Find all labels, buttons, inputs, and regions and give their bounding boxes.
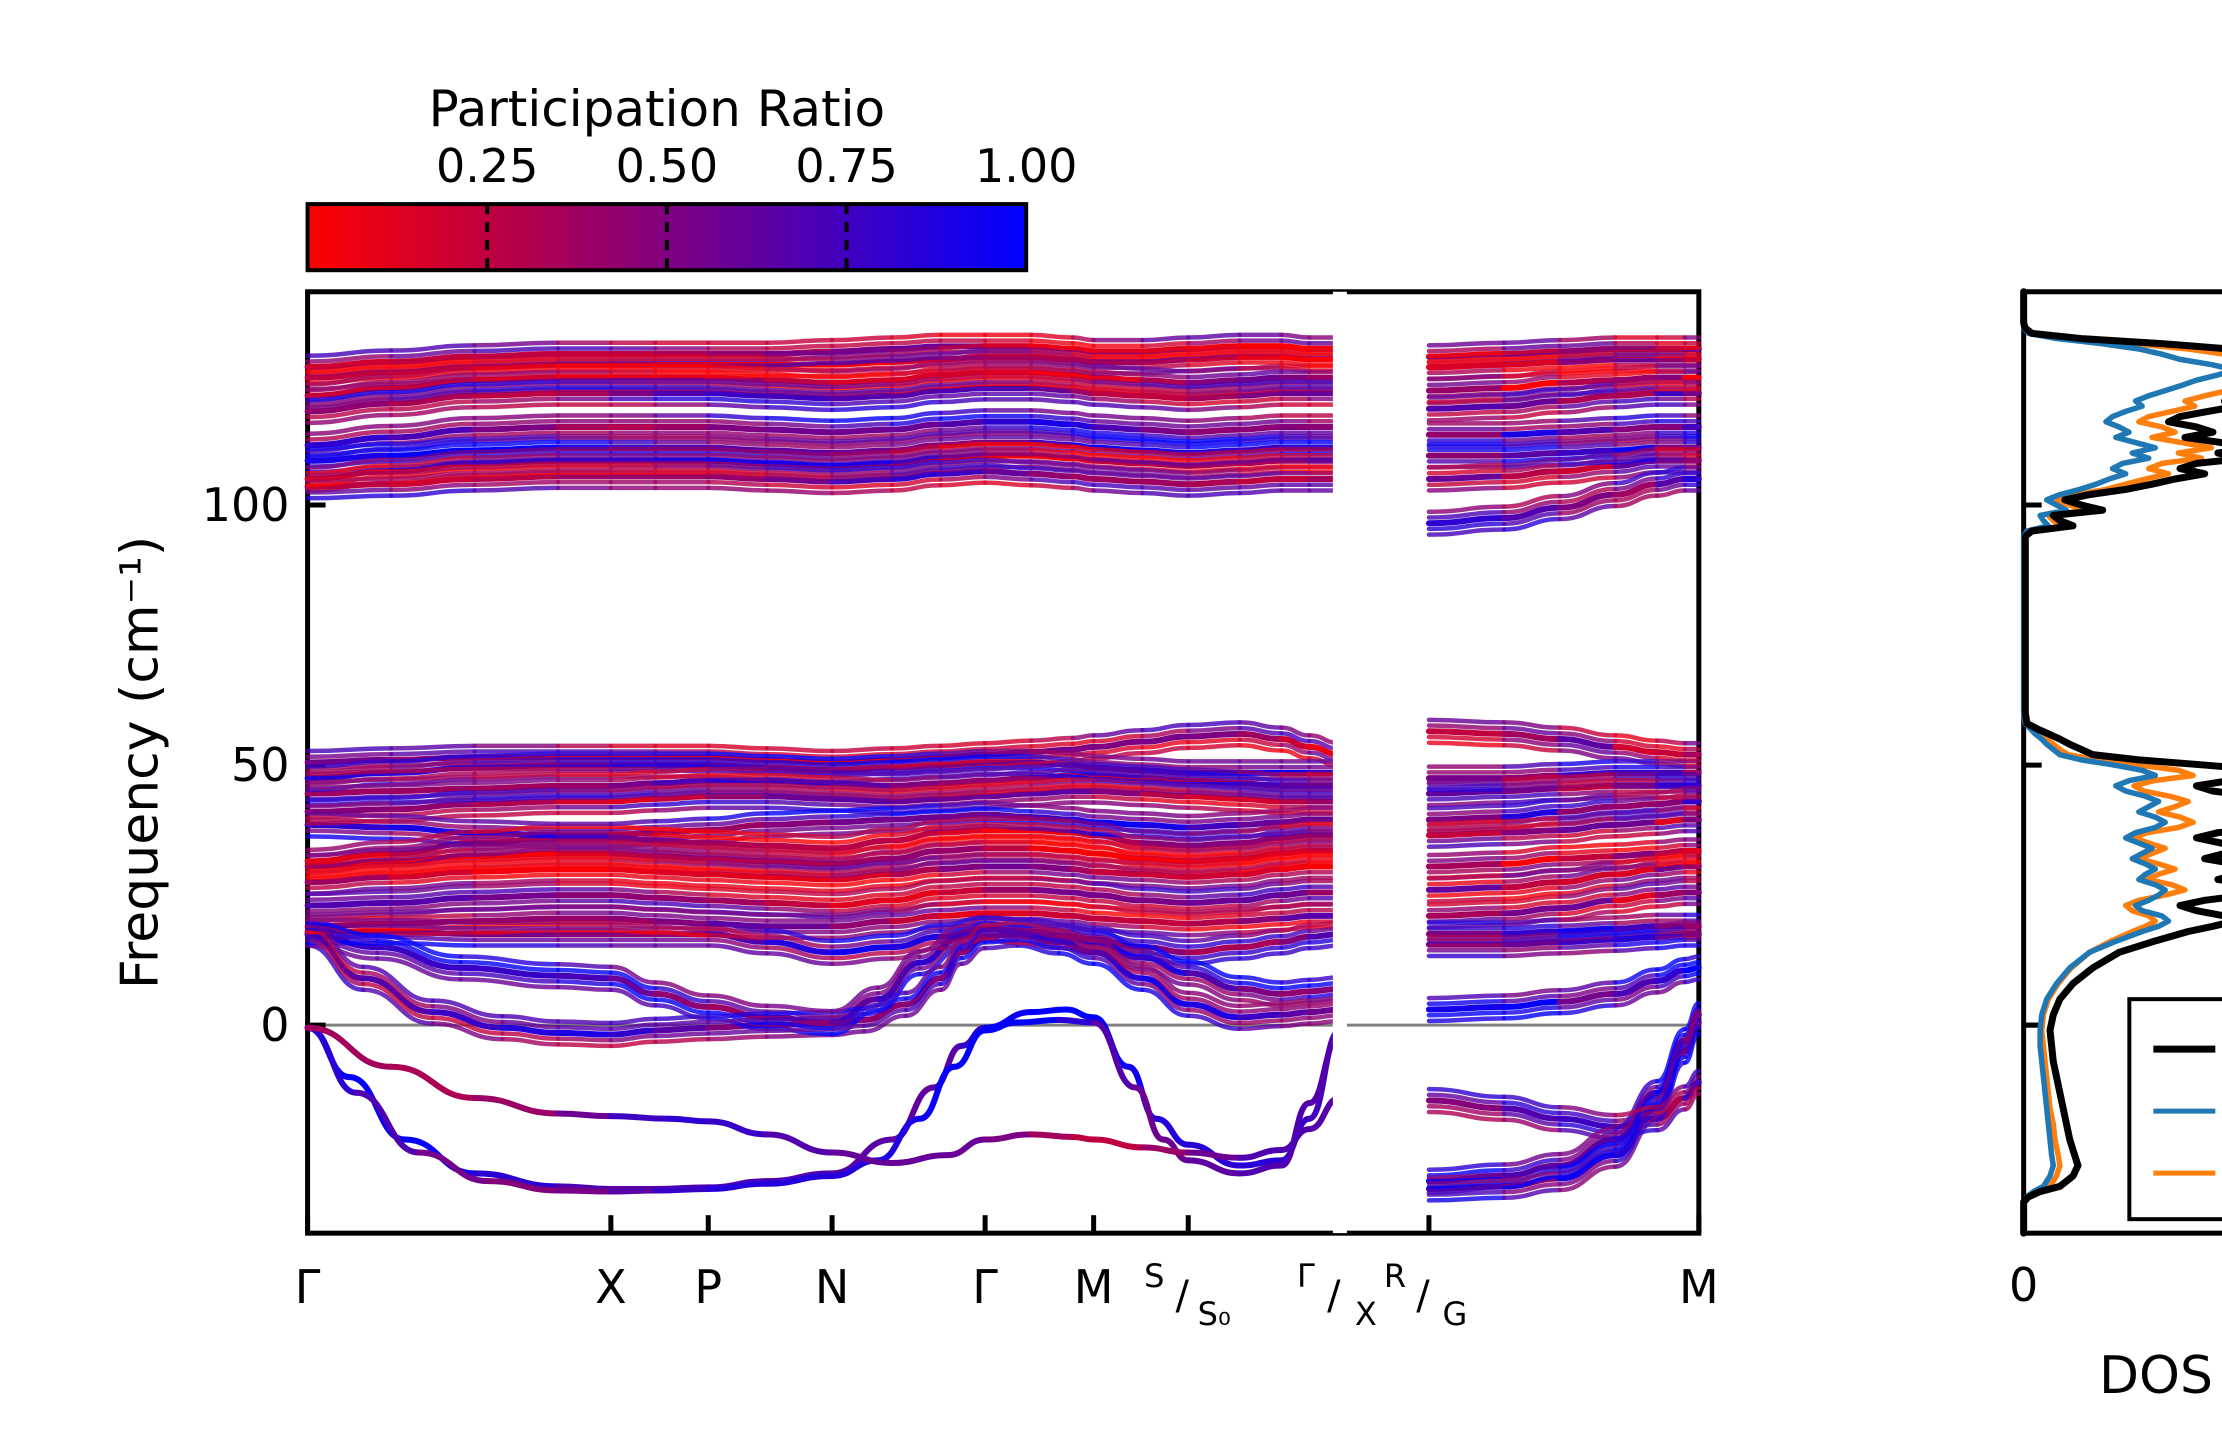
band-curve-dense-r105-0-2 (1560, 951, 1616, 954)
band-curve-dense-r109-3-0 (1429, 852, 1504, 855)
band-curve-dense-12-2-0 (308, 819, 391, 822)
band-curve-dense-13-2-12 (1031, 785, 1073, 788)
band-curve-2-seg-1 (356, 1093, 419, 1153)
band-curve-dense-13-1-16 (1188, 802, 1239, 805)
band-curve-dense-13-3-14 (1094, 780, 1143, 783)
band-curve-118-seg-1 (1504, 432, 1560, 435)
band-curve-dense-17-0-16 (1188, 493, 1239, 496)
band-curve-3-seg-7 (767, 1134, 832, 1152)
band-curve-dense-9-1-5 (655, 877, 708, 880)
band-curve-dense-12-3-0 (308, 813, 391, 816)
band-curve-dense-18-3-7 (767, 452, 832, 455)
band-curve-dense-r110-1-0 (1429, 838, 1504, 841)
band-curve-dense-24-2-12 (1031, 341, 1073, 344)
band-curve-dense-r121-3-2 (1560, 348, 1616, 351)
band-curve-dense-15-3-6 (708, 754, 766, 757)
band-curve-dense-24-3-8 (832, 338, 892, 341)
band-curve-dense-20-3-8 (832, 418, 892, 421)
band-curve-2-seg-14 (1017, 1020, 1059, 1023)
band-curve-dense-21-1-14 (1094, 399, 1143, 402)
band-curve-dense-20-2-16 (1188, 424, 1239, 427)
band-curve-dense-14-3-7 (767, 769, 832, 772)
band-curve-dense-15-3-7 (767, 756, 832, 759)
band-curve-dense-16-3-12 (1031, 738, 1073, 741)
band-curve-dense-r110-3-0 (1429, 821, 1504, 824)
band-curve-dense-r106-0-3 (1615, 938, 1657, 941)
band-curve-dense-21-3-7 (767, 384, 832, 387)
band-curve-dense-9-3-13 (1073, 858, 1094, 861)
band-curve-dense-21-2-17 (1240, 387, 1282, 390)
band-curve-dense-r118-2-1 (1504, 426, 1560, 429)
band-curve-dense-r110-0-3 (1615, 834, 1657, 837)
band-curve-dense-r113-3-1 (1504, 764, 1560, 767)
band-curve-dense-23-3-13 (1073, 348, 1094, 351)
band-curve-3-seg-9 (892, 1155, 948, 1163)
band-curve-dense-20-2-15 (1142, 424, 1188, 427)
band-curve-dense-17-3-10 (941, 460, 986, 463)
band-curve-dense-9-3-18 (1281, 855, 1309, 858)
band-curve-dense-r122-0-0 (1429, 366, 1504, 369)
band-panel: 100500Frequency (cm⁻¹)ΓXPNΓMS/S₀Γ/XR/GM (111, 292, 1719, 1333)
band-curve-dense-21-3-6 (708, 382, 766, 385)
band-curve-dense-7-3-16 (1188, 910, 1239, 913)
band-curve-dense-15-2-7 (767, 762, 832, 765)
band-curve-dense-10-3-12 (1031, 837, 1073, 840)
band-curve-dense-12-1-0 (308, 831, 391, 834)
band-curve-dense-r112-3-2 (1560, 774, 1616, 777)
band-curve-dense-23-2-12 (1031, 351, 1073, 354)
band-curve-dense-8-3-18 (1281, 881, 1309, 884)
band-curve-dense-17-0-10 (941, 483, 986, 486)
band-curve-dense-21-2-6 (708, 387, 766, 390)
band-curve-20-seg-6 (708, 427, 766, 430)
band-curve-dense-r116-0-0 (1429, 488, 1504, 491)
band-curve-dense-r105-0-3 (1615, 948, 1657, 951)
band-curve-dense-r106-3-3 (1615, 915, 1657, 918)
band-curve-dense-19-3-8 (832, 439, 892, 442)
band-curve-dense-11-3-18 (1281, 824, 1309, 827)
band-curve-dense-21-3-12 (1031, 377, 1073, 380)
band-curve-dense-16-3-6 (708, 746, 766, 749)
band-curve-dense-7-0-5 (655, 933, 708, 936)
band-curve-dense-14-2-7 (767, 775, 832, 778)
band-curve-dense-13-2-5 (655, 791, 708, 794)
band-curve-8-seg-18 (1281, 892, 1309, 895)
band-curve-dense-7-1-17 (1240, 924, 1282, 927)
band-curve-dense-r122-3-0 (1429, 343, 1504, 346)
band-curve-dense-8-1-12 (1031, 896, 1073, 899)
band-curve-dense-r119-2-0 (1429, 400, 1504, 403)
band-curve-dense-18-3-2 (475, 449, 558, 452)
band-curve-dense-14-3-17 (1240, 772, 1282, 775)
band-curve-dense-9-3-10 (941, 855, 986, 858)
band-curve-dense-17-2-6 (708, 471, 766, 474)
band-curve-dense-13-1-5 (655, 802, 708, 805)
band-curve-dense-11-2-16 (1188, 837, 1239, 840)
band-curve-dense-7-2-2 (475, 913, 558, 916)
band-curve-dense-r106-3-2 (1560, 917, 1616, 920)
band-curve-dense-14-3-4 (611, 772, 656, 775)
band-curve-dense-6-3-1 (391, 920, 474, 923)
band-curve-dense-10-2-12 (1031, 843, 1073, 846)
band-curve-dense-r108-3-4 (1657, 855, 1685, 858)
band-curve-dense-17-2-12 (1031, 468, 1073, 471)
band-curve-dense-14-3-0 (308, 780, 391, 783)
band-curve-dense-16-3-1 (391, 746, 474, 749)
band-curve-dense-20-2-10 (941, 416, 986, 419)
band-curve-dense-13-1-14 (1094, 797, 1143, 800)
band-curve-dense-17-3-17 (1240, 468, 1282, 471)
band-curve-dense-4-3-14 (985, 923, 1017, 926)
band-curve-dense-12-2-18 (1281, 814, 1309, 817)
band-curve-dense-24-2-8 (832, 343, 892, 346)
phonon-figure: 0.250.500.751.00Participation Ratio10050… (0, 0, 2222, 1455)
band-curve-2-seg-6 (655, 1189, 708, 1191)
band-curve-dense-19-2-17 (1240, 442, 1282, 445)
band-curve-dense-r106-0-2 (1560, 940, 1616, 943)
band-curve-dense-r112-1-0 (1429, 797, 1504, 800)
band-curve-7-seg-16 (1188, 921, 1239, 924)
band-curve-dense-21-1-10 (941, 394, 986, 397)
band-curve-dense-8-1-2 (475, 901, 558, 904)
band-curve-4-seg-21 (1281, 1012, 1309, 1015)
band-curve-9-seg-10 (941, 866, 986, 869)
band-curve-dense-r104-2-5 (1685, 962, 1699, 965)
band-curve-dense-7-3-2 (475, 907, 558, 910)
band-curve-111-seg-4 (1657, 801, 1685, 804)
band-ytick-label-1: 50 (231, 738, 290, 792)
band-curve-dense-24-2-15 (1142, 343, 1188, 346)
band-curve-dense-13-2-9 (892, 793, 941, 796)
band-curve-dense-5-2-19 (1281, 986, 1309, 989)
band-curve-dense-14-2-8 (832, 778, 892, 781)
band-curve-dense-9-2-15 (1142, 869, 1188, 872)
band-curve-dense-17-0-15 (1142, 493, 1188, 496)
band-curve-dense-17-1-6 (708, 482, 766, 485)
band-curve-dense-24-3-7 (767, 340, 832, 343)
band-curve-dense-7-2-10 (941, 908, 986, 911)
band-curve-dense-r108-3-0 (1429, 876, 1504, 879)
band-curve-dense-13-3-9 (892, 787, 941, 790)
colorbar-tick-label-2: 0.75 (795, 139, 897, 193)
colorbar-tick-label-1: 0.50 (616, 139, 718, 193)
band-curve-dense-19-3-7 (767, 439, 832, 442)
band-curve-dense-18-2-8 (832, 458, 892, 461)
band-curve-3-seg-5 (669, 1119, 708, 1122)
band-curve-dense-16-2-16 (1188, 728, 1239, 731)
band-curve-12-seg-7 (767, 822, 832, 825)
band-curve-dense-20-3-10 (941, 410, 986, 413)
band-curve-dense-21-3-8 (832, 384, 892, 387)
band-curve-9-seg-12 (1031, 866, 1073, 869)
band-curve-dense-8-1-4 (611, 901, 656, 904)
band-curve-dense-r105-3-2 (1560, 928, 1616, 931)
band-curve-5-seg-3 (558, 976, 611, 979)
band-curve-dense-7-2-14 (1094, 913, 1143, 916)
band-curve-dense-16-3-10 (941, 743, 986, 746)
band-curve-dense-r113-2-2 (1560, 767, 1616, 770)
band-curve-dense-21-2-16 (1188, 390, 1239, 393)
band-curve-dense-18-3-15 (1142, 452, 1188, 455)
band-curve-7-seg-17 (1240, 918, 1282, 921)
band-curve-dense-21-2-14 (1094, 387, 1143, 390)
band-curve-dense-r120-2-3 (1615, 372, 1657, 375)
band-curve-dense-22-3-17 (1240, 366, 1282, 369)
band-curve-dense-24-2-7 (767, 346, 832, 349)
band-curve-dense-9-3-6 (708, 863, 766, 866)
band-curve-dense-22-2-14 (1094, 372, 1143, 375)
band-curve-dense-18-2-17 (1240, 455, 1282, 458)
band-curve-dense-r110-3-4 (1657, 808, 1685, 811)
band-curve-2-seg-0 (308, 1028, 357, 1093)
band-curve-dense-14-2-4 (611, 778, 656, 781)
band-curve-3-seg-1 (391, 1067, 474, 1098)
band-curve-dense-12-3-16 (1188, 813, 1239, 816)
band-curve-10-seg-10 (941, 848, 986, 851)
band-curve-dense-4-3-6 (655, 1016, 708, 1019)
band-curve-118-seg-3 (1615, 427, 1657, 430)
band-curve-dense-17-2-11 (985, 465, 1031, 468)
band-xtick-num-6: S (1144, 1257, 1164, 1295)
band-curve-dense-r114-3-0 (1429, 720, 1504, 723)
band-curve-dense-6-3-13 (1073, 925, 1094, 928)
band-curve-3-seg-17 (1240, 1150, 1282, 1158)
band-curve-dense-r110-0-4 (1657, 831, 1685, 834)
band-curve-dense-10-3-15 (1142, 847, 1188, 850)
band-curve-dense-17-0-12 (1031, 485, 1073, 488)
band-curve-dense-20-2-2 (475, 421, 558, 424)
band-curve-dense-r119-3-0 (1429, 395, 1504, 398)
band-curve-dense-17-0-0 (308, 496, 391, 499)
band-curve-dense-8-3-2 (475, 884, 558, 887)
band-curve-dense-21-0-7 (767, 407, 832, 410)
band-curve-dense-13-2-15 (1142, 788, 1188, 791)
band-curve-dense-r121-3-1 (1504, 351, 1560, 354)
band-curve-dense-21-2-12 (1031, 382, 1073, 385)
band-curve-dense-r117-3-1 (1504, 442, 1560, 445)
band-curve-dense-r113-2-1 (1504, 770, 1560, 773)
band-curve-dense-23-2-13 (1073, 354, 1094, 357)
band-curve-dense-12-3-9 (892, 806, 941, 809)
band-curve-dense-8-3-4 (611, 884, 656, 887)
band-curve-dense-r106-2-3 (1615, 921, 1657, 924)
band-curve-dense-24-2-9 (892, 341, 941, 344)
band-curve-dense-17-1-15 (1142, 487, 1188, 490)
band-curve-dense-4-0-6 (655, 1039, 708, 1042)
band-curve-dense-7-0-1 (391, 933, 474, 936)
band-curve-dense-12-3-11 (985, 803, 1031, 806)
band-curve-dense-22-2-8 (832, 374, 892, 377)
band-curve-dense-20-3-15 (1142, 418, 1188, 421)
band-curve-dense-23-3-18 (1281, 345, 1309, 348)
band-curve-dense-21-3-10 (941, 377, 986, 380)
band-curve-dense-r105-2-1 (1504, 936, 1560, 939)
band-ytick-label-2: 0 (260, 998, 289, 1052)
band-curve-dense-24-0-18 (1281, 358, 1309, 361)
band-curve-dense-10-2-18 (1281, 845, 1309, 848)
band-curve-dense-14-3-1 (391, 777, 474, 780)
band-curve-dense-20-3-2 (475, 416, 558, 419)
band-curve-3-seg-10 (948, 1140, 986, 1156)
band-curve-dense-19-2-16 (1188, 445, 1239, 448)
band-curve-dense-18-3-8 (832, 452, 892, 455)
band-curve-20-seg-14 (1094, 427, 1143, 430)
band-curve-16-seg-13 (1073, 747, 1094, 750)
band-curve-dense-4-0-4 (558, 1044, 611, 1046)
band-curve-dense-14-3-16 (1188, 769, 1239, 772)
band-curve-dense-19-2-10 (941, 437, 986, 440)
band-curve-dense-13-3-10 (941, 785, 986, 788)
band-curve-dense-7-2-1 (391, 915, 474, 918)
band-curve-dense-16-0-16 (1188, 745, 1239, 748)
band-curve-dense-23-2-8 (832, 356, 892, 359)
band-curve-dense-15-3-14 (1094, 756, 1143, 759)
band-curve-dense-17-3-11 (985, 460, 1031, 463)
band-curve-dense-11-2-13 (1073, 827, 1094, 830)
band-curve-dense-12-2-15 (1142, 819, 1188, 822)
band-xtick-den-7: X (1355, 1295, 1377, 1333)
band-curve-dense-8-3-13 (1073, 881, 1094, 884)
band-curve-dense-12-3-7 (767, 811, 832, 814)
band-curve-dense-11-3-13 (1073, 821, 1094, 824)
band-curve-dense-4-2-6 (655, 1022, 708, 1025)
band-curve-8-seg-7 (767, 903, 832, 906)
band-curve-dense-21-0-12 (1031, 399, 1073, 402)
band-curve-dense-11-2-18 (1281, 830, 1309, 833)
band-curve-dense-4-3-7 (708, 1014, 766, 1017)
band-curve-2-seg-5 (611, 1191, 656, 1192)
band-curve-dense-r109-3-3 (1615, 842, 1657, 845)
band-curve-dense-11-2-15 (1142, 837, 1188, 840)
band-curve-dense-23-3-12 (1031, 345, 1073, 348)
band-curve-dense-r117-3-3 (1615, 436, 1657, 439)
band-curve-dense-r104-1-5 (1685, 974, 1699, 977)
band-curve-8-seg-13 (1073, 892, 1094, 895)
band-curve-dense-7-2-17 (1240, 913, 1282, 916)
band-curve-116-seg-0 (1429, 476, 1504, 479)
band-curve-dense-23-1-16 (1188, 362, 1239, 365)
band-curve-dense-10-3-13 (1073, 839, 1094, 842)
band-curve-dense-8-3-7 (767, 891, 832, 894)
band-curve-dense-20-2-13 (1073, 419, 1094, 422)
band-curve-dense-r120-3-0 (1429, 377, 1504, 380)
band-curve-dense-12-2-11 (985, 809, 1031, 812)
band-curve-dense-22-3-12 (1031, 361, 1073, 364)
band-curve-dense-8-2-10 (941, 884, 986, 887)
band-curve-dense-r120-3-3 (1615, 366, 1657, 369)
band-curves-dense (308, 335, 1699, 1200)
band-curve-dense-21-2-15 (1142, 390, 1188, 393)
band-curve-dense-7-3-12 (1031, 902, 1073, 905)
band-curve-17-seg-15 (1142, 482, 1188, 485)
band-curve-dense-17-1-12 (1031, 480, 1073, 483)
band-curve-dense-13-1-12 (1031, 797, 1073, 800)
band-curve-dense-r107-0-4 (1657, 904, 1685, 907)
band-curve-dense-r105-1-3 (1615, 942, 1657, 945)
band-curve-dense-8-2-6 (708, 895, 766, 898)
band-curve-2-seg-16 (1094, 1023, 1136, 1088)
band-curve-dense-17-3-7 (767, 468, 832, 471)
band-curve-dense-17-1-14 (1094, 485, 1143, 488)
band-curve-dense-19-3-14 (1094, 436, 1143, 439)
band-curve-dense-16-2-1 (391, 752, 474, 755)
dos-legend[interactable]: TotalHgI (2129, 999, 2222, 1219)
band-curve-dense-4-2-14 (985, 928, 1017, 931)
band-curve-dense-21-3-14 (1094, 382, 1143, 385)
band-curve-dense-23-3-2 (475, 353, 558, 356)
band-curve-dense-7-2-16 (1188, 915, 1239, 918)
band-curve-dense-12-2-8 (832, 814, 892, 817)
band-discontinuity-mask (1333, 295, 1347, 1230)
band-curve-dense-22-2-7 (767, 374, 832, 377)
band-curve-dense-13-2-14 (1094, 785, 1143, 788)
band-curve-dense-24-2-2 (475, 348, 558, 351)
band-curve-dense-14-3-5 (655, 769, 708, 772)
band-curve-8-seg-5 (655, 898, 708, 901)
band-curve-dense-17-1-11 (985, 477, 1031, 480)
band-curve-dense-18-3-6 (708, 449, 766, 452)
band-curve-dense-r120-2-2 (1560, 374, 1616, 377)
band-curve-dense-13-3-5 (655, 785, 708, 788)
band-curve-dense-r110-0-0 (1429, 844, 1504, 847)
band-curve-dense-14-2-10 (941, 775, 986, 778)
band-curve-dense-21-0-6 (708, 405, 766, 408)
band-curve-dense-9-3-4 (611, 858, 656, 861)
band-curve-dense-17-3-2 (475, 465, 558, 468)
colorbar-tick-label-0: 0.25 (436, 139, 538, 193)
band-curve-dense-15-3-10 (941, 751, 986, 754)
band-curve-dense-r114-2-0 (1429, 726, 1504, 729)
band-curve-dense-8-3-6 (708, 889, 766, 892)
band-curve-dense-21-1-2 (475, 399, 558, 402)
band-curve-dense-r114-0-0 (1429, 743, 1504, 746)
band-curve-dense-15-2-12 (1031, 757, 1073, 760)
band-curve-dense-24-3-9 (892, 335, 941, 338)
band-curve-dense-22-3-13 (1073, 364, 1094, 367)
band-curve-dense-7-3-10 (941, 902, 986, 905)
band-curve-dense-16-2-12 (1031, 744, 1073, 747)
band-xtick-den-6: S₀ (1198, 1295, 1231, 1333)
band-curve-dense-8-2-18 (1281, 887, 1309, 890)
band-curve-dense-17-2-17 (1240, 473, 1282, 476)
band-curve-dense-8-2-16 (1188, 895, 1239, 898)
band-curve-dense-24-3-13 (1073, 338, 1094, 341)
band-curve-dense-r105-0-1 (1504, 953, 1560, 956)
band-curve-dense-r117-2-2 (1560, 445, 1616, 448)
band-curve-dense-12-1-7 (767, 828, 832, 831)
band-curve-dense-22-2-17 (1240, 372, 1282, 375)
band-curve-110-seg-4 (1657, 820, 1685, 823)
band-curve-dense-5-3-3 (558, 964, 611, 967)
band-curve-dense-21-3-13 (1073, 379, 1094, 382)
band-curve-dense-13-2-7 (767, 791, 832, 794)
band-curve-dense-17-3-14 (1094, 468, 1143, 471)
band-curve-dense-21-1-12 (1031, 394, 1073, 397)
band-curve-dense-r109-2-0 (1429, 858, 1504, 861)
band-curve-dense-r111-2-3 (1615, 798, 1657, 801)
band-curve-dense-6-2-1 (391, 926, 474, 929)
band-curve-dense-r121-3-0 (1429, 353, 1504, 356)
band-curve-dense-10-2-7 (767, 856, 832, 859)
band-curve-dense-19-3-16 (1188, 439, 1239, 442)
band-curve-dense-19-2-6 (708, 442, 766, 445)
band-curve-dense-9-1-18 (1281, 872, 1309, 875)
band-curve-dense-r119-1-0 (1429, 412, 1504, 415)
band-curve-dense-8-1-10 (941, 896, 986, 899)
band-curve-dense-16-1-16 (1188, 740, 1239, 743)
band-curve-dense-17-1-0 (308, 490, 391, 493)
band-curve-dense-r122-3-2 (1560, 338, 1616, 341)
